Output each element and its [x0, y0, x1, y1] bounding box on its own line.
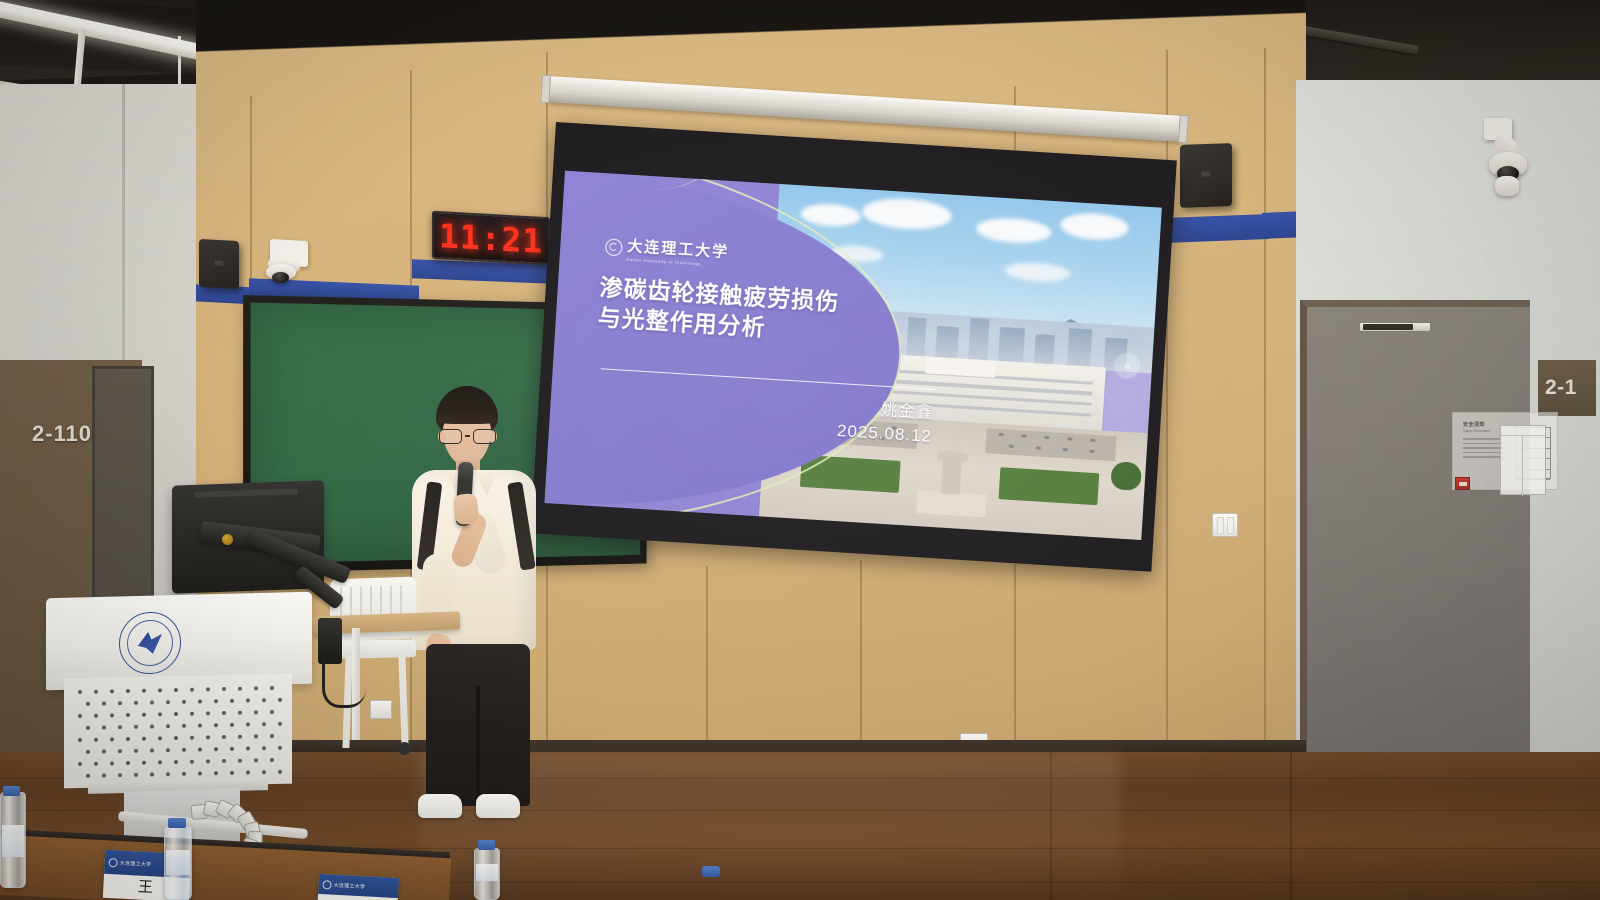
dome-camera-icon	[272, 272, 289, 283]
magnetic-lock-core	[1363, 324, 1413, 330]
placard-org: 大连理工大学	[333, 881, 365, 890]
monitor-arm-knob	[222, 534, 233, 545]
university-seal-icon	[605, 238, 623, 256]
bottle-cap	[478, 840, 495, 850]
light-switch[interactable]	[1212, 513, 1238, 537]
water-bottle	[0, 792, 26, 888]
emblem-swoosh-icon	[138, 632, 162, 655]
water-bottle	[164, 826, 192, 900]
placard-seal-icon	[108, 857, 117, 866]
lecture-room-photo: 2-1 2-110 安全须知 Safety Information 11:21	[0, 0, 1600, 900]
fire-alarm-button[interactable]	[1455, 477, 1470, 490]
room-number-plate-right: 2-1	[1538, 360, 1596, 416]
clock-time: 11:21	[439, 216, 543, 261]
trouser-seam	[476, 686, 480, 804]
bottle-cap	[3, 786, 20, 796]
led-wall-clock: 11:21	[432, 211, 550, 266]
bottle-cap	[168, 818, 186, 828]
room-number-plate-left: 2-110	[14, 415, 110, 453]
glasses-icon	[439, 428, 496, 444]
presenter	[404, 386, 550, 826]
water-bottle	[474, 848, 500, 900]
projected-slide: 大连理工大学 Dalian University of Technology 渗…	[544, 171, 1161, 540]
placard-seal-icon	[322, 880, 331, 889]
slide-canvas: 大连理工大学 Dalian University of Technology 渗…	[544, 171, 1161, 540]
monitor-arm-clamp	[318, 618, 342, 664]
wall-accent-stripe	[1164, 214, 1269, 243]
name-placard: 大连理工大学	[317, 874, 399, 900]
wall-speaker	[1180, 143, 1232, 208]
screen-bracket	[1178, 115, 1189, 144]
placard-header: 大连理工大学	[318, 874, 399, 898]
chair-caster	[398, 742, 411, 755]
placard-org: 大连理工大学	[119, 859, 151, 868]
presenter-shoe	[476, 794, 520, 818]
presenter-shoe	[418, 794, 462, 818]
wall-seam	[1264, 48, 1266, 768]
wall-sign-panel	[1500, 425, 1546, 495]
camera-base	[1495, 176, 1519, 196]
monitor-cable	[322, 660, 366, 708]
presenter-hand	[452, 493, 479, 525]
bottle-cap	[702, 866, 720, 877]
screen-bracket	[540, 75, 551, 104]
power-outlet[interactable]	[370, 700, 392, 719]
lectern-perforated-panel	[72, 680, 284, 782]
projection-screen[interactable]: 大连理工大学 Dalian University of Technology 渗…	[530, 122, 1176, 572]
wall-speaker	[199, 239, 239, 289]
